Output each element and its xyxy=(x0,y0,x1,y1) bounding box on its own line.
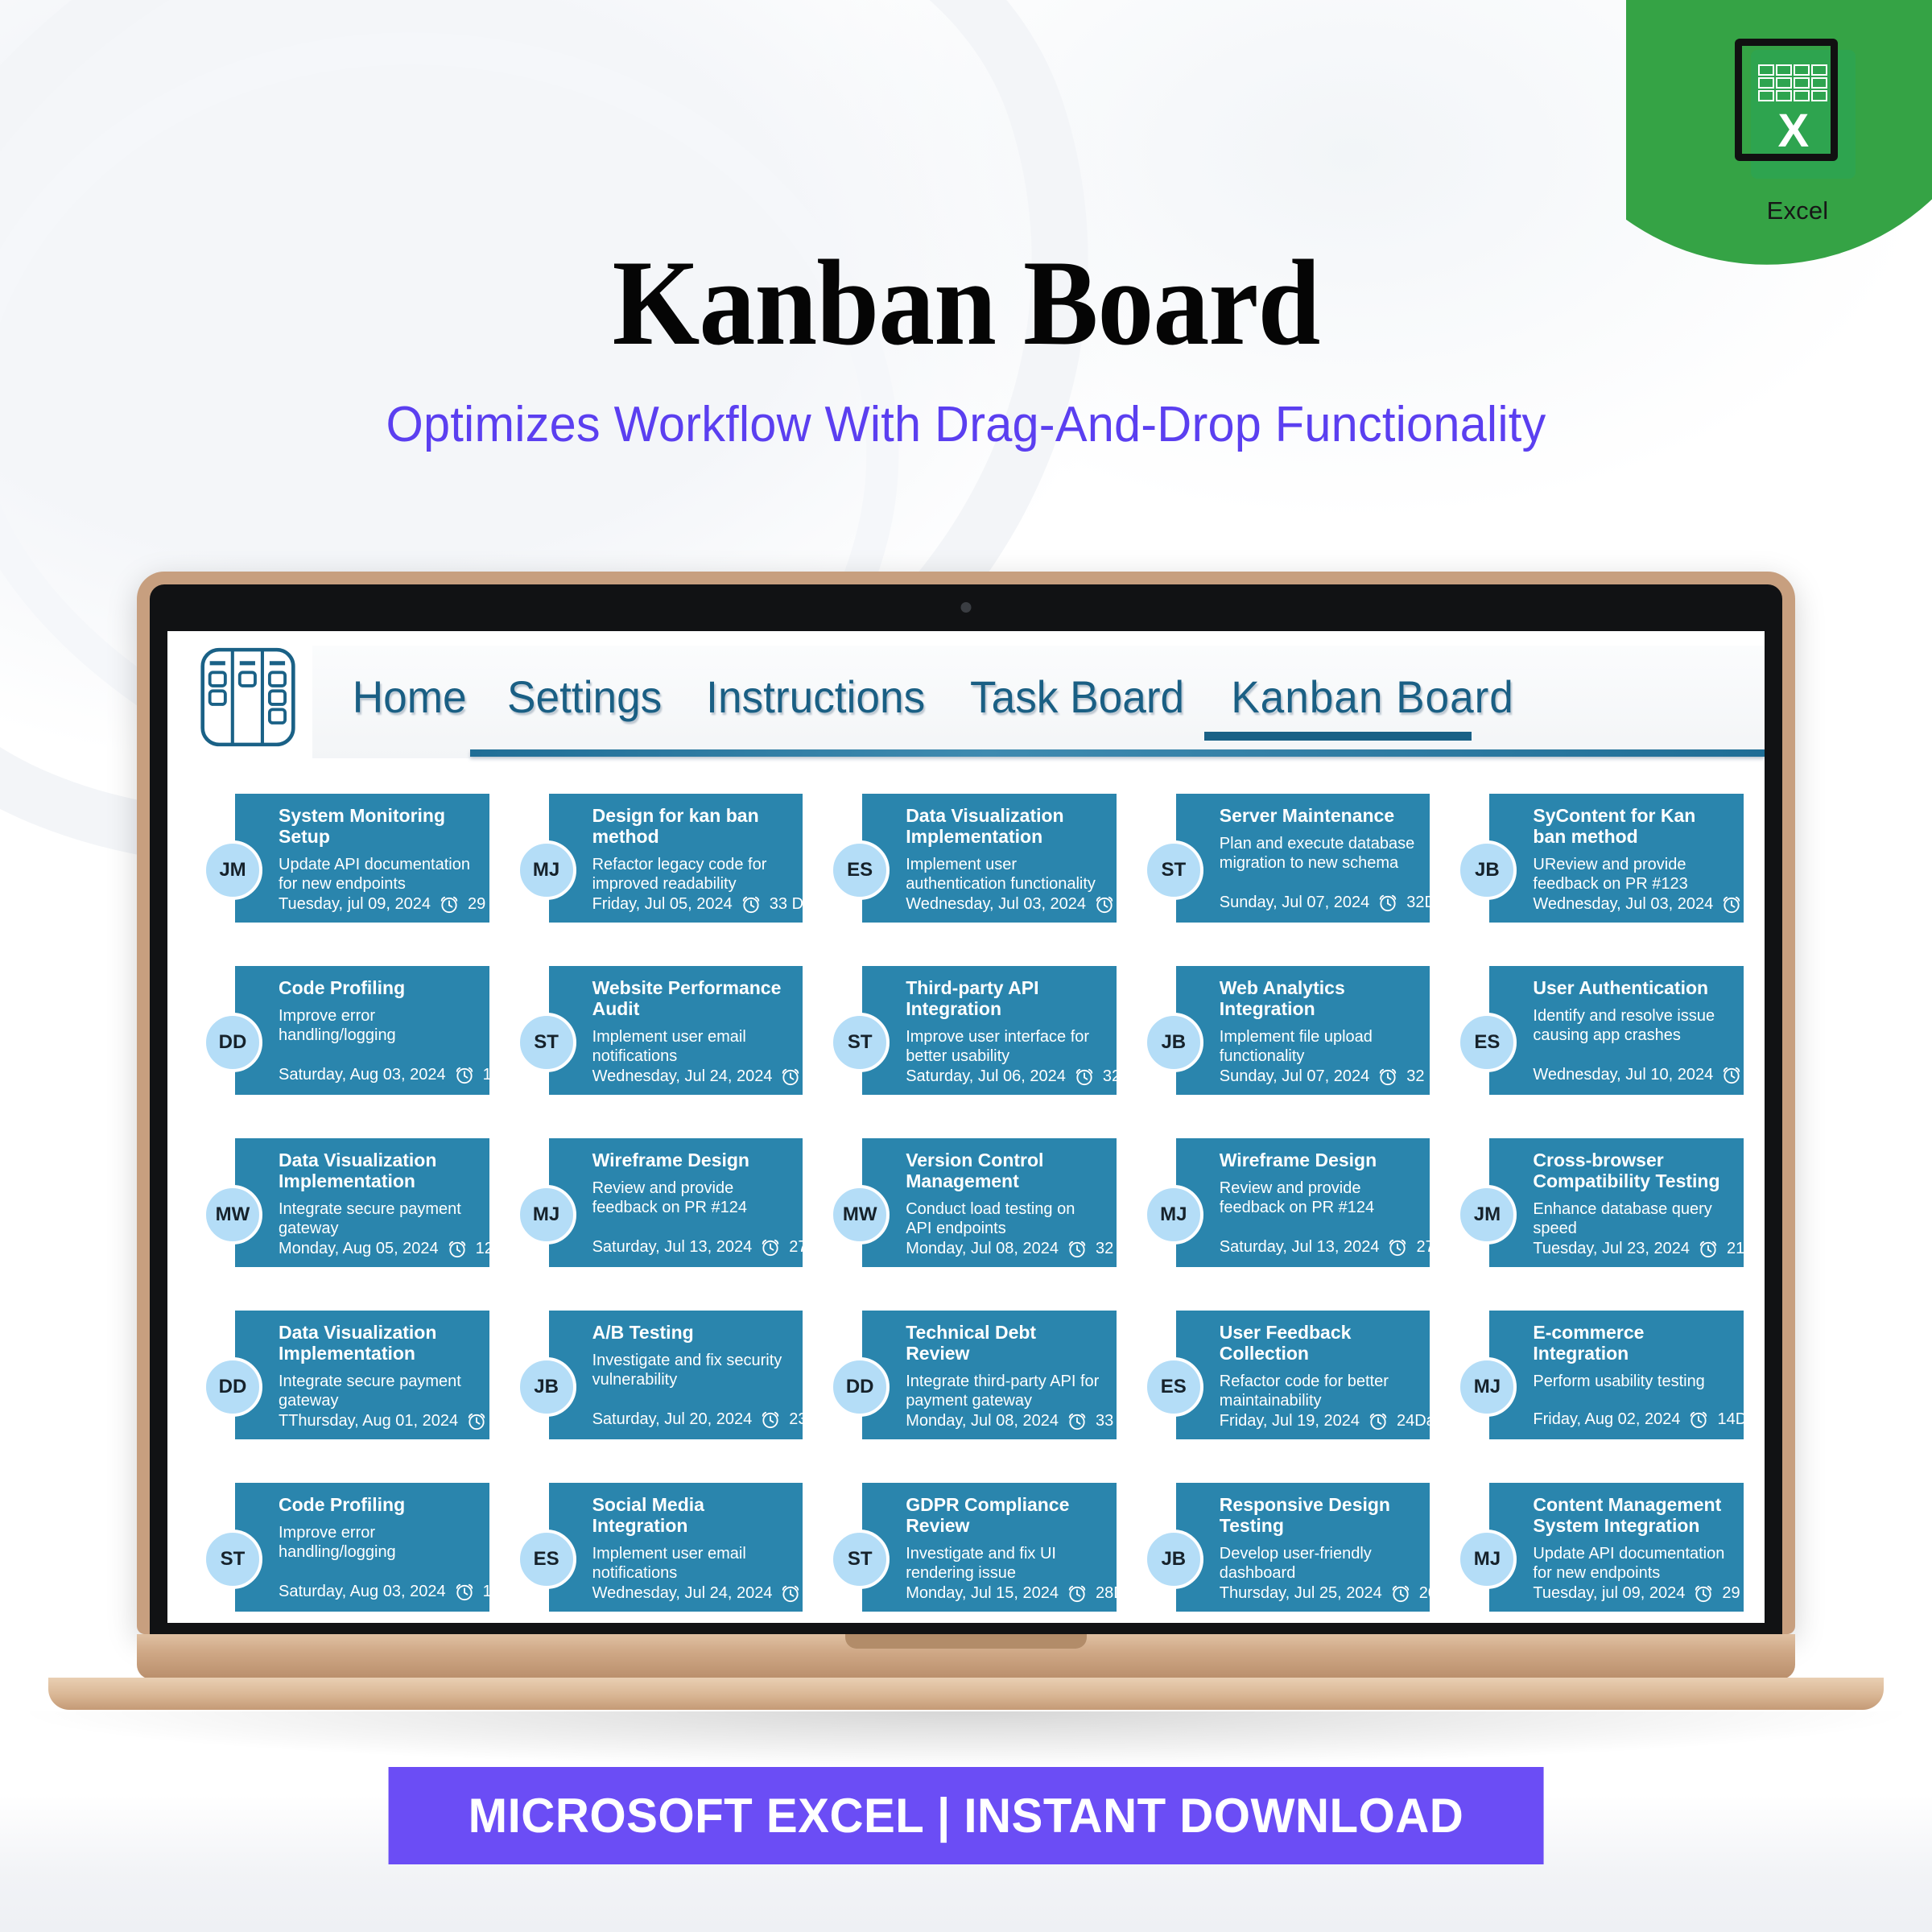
avatar[interactable]: JM xyxy=(1457,1185,1517,1245)
kanban-card[interactable]: System Monitoring SetupUpdate API docume… xyxy=(235,794,489,923)
clock-icon xyxy=(1721,1064,1742,1085)
kanban-card-slot: Server MaintenancePlan and execute datab… xyxy=(1144,787,1430,953)
card-description: Improve user interface for better usabil… xyxy=(899,1027,1102,1066)
card-meta: Monday, Jul 08, 202432 Days70% xyxy=(899,1238,1102,1259)
card-description: Conduct load testing on API endpoints xyxy=(899,1199,1102,1238)
kanban-card[interactable]: Code ProfilingImprove error handling/log… xyxy=(235,1483,489,1612)
kanban-card-slot: SyContent for Kan ban methodUReview and … xyxy=(1457,787,1744,953)
kanban-card[interactable]: Website Performance AuditImplement user … xyxy=(549,966,803,1095)
kanban-card[interactable]: Server MaintenancePlan and execute datab… xyxy=(1176,794,1430,923)
laptop-foot xyxy=(48,1678,1884,1710)
card-meta: Saturday, Jul 13, 202427Days90% xyxy=(1213,1236,1416,1257)
card-due-date: Thursday, Jul 25, 2024 xyxy=(1220,1584,1382,1603)
card-due-date: Friday, Jul 05, 2024 xyxy=(592,895,733,914)
clock-icon xyxy=(1721,894,1742,914)
card-description: Investigate and fix security vulnerabili… xyxy=(586,1351,789,1409)
avatar[interactable]: ST xyxy=(203,1529,262,1589)
card-title: Code Profiling xyxy=(272,1494,475,1515)
card-title: E-commerce Integration xyxy=(1526,1322,1729,1364)
card-due-date: Wednesday, Jul 24, 2024 xyxy=(592,1584,773,1603)
kanban-card-slot: User AuthenticationIdentify and resolve … xyxy=(1457,960,1744,1125)
card-meta: Tuesday, jul 09, 202429 Days1% xyxy=(1526,1583,1729,1604)
footer-banner: MICROSOFT EXCEL | INSTANT DOWNLOAD xyxy=(389,1767,1544,1864)
card-due-date: Monday, Aug 05, 2024 xyxy=(279,1240,439,1258)
avatar[interactable]: ES xyxy=(1457,1013,1517,1072)
kanban-card[interactable]: Data Visualization ImplementationIntegra… xyxy=(235,1138,489,1267)
card-title: Responsive Design Testing xyxy=(1213,1494,1416,1536)
avatar[interactable]: MJ xyxy=(517,840,576,900)
card-meta: Wednesday, Jul 24, 202420 Days40% xyxy=(586,1066,789,1087)
card-due-date: Wednesday, Jul 03, 2024 xyxy=(906,895,1086,914)
card-title: Code Profiling xyxy=(272,977,475,998)
avatar[interactable]: DD xyxy=(203,1357,262,1417)
nav-link-home[interactable]: Home xyxy=(353,671,467,723)
card-duration: 35 Days xyxy=(1750,895,1765,914)
kanban-card[interactable]: Third-party API IntegrationImprove user … xyxy=(862,966,1117,1095)
kanban-board-grid: System Monitoring SetupUpdate API docume… xyxy=(167,760,1765,1623)
card-meta: Saturday, Aug 03, 202413Days70% xyxy=(272,1581,475,1602)
card-meta: Tuesday, Jul 23, 202421Days100% xyxy=(1526,1238,1729,1259)
clock-icon xyxy=(466,1410,487,1431)
avatar[interactable]: DD xyxy=(203,1013,262,1072)
nav-link-settings[interactable]: Settings xyxy=(507,671,662,723)
avatar[interactable]: ST xyxy=(1144,840,1203,900)
laptop-shadow xyxy=(8,1711,1924,1768)
card-title: Version Control Management xyxy=(899,1150,1102,1191)
card-due-date: Wednesday, Jul 03, 2024 xyxy=(1533,895,1713,914)
kanban-card-slot: Web Analytics IntegrationImplement file … xyxy=(1144,960,1430,1125)
kanban-card-slot: User Feedback CollectionRefactor code fo… xyxy=(1144,1304,1430,1470)
avatar[interactable]: ST xyxy=(517,1013,576,1072)
kanban-card-slot: Social Media IntegrationImplement user e… xyxy=(517,1476,803,1623)
card-description: Review and provide feedback on PR #124 xyxy=(1213,1179,1416,1236)
card-duration: 24Days xyxy=(1397,1412,1451,1430)
card-description: Refactor code for better maintainability xyxy=(1213,1372,1416,1410)
card-description: Implement file upload functionality xyxy=(1213,1027,1416,1066)
card-due-date: Saturday, Aug 03, 2024 xyxy=(279,1066,446,1084)
kanban-card-slot: Website Performance AuditImplement user … xyxy=(517,960,803,1125)
clock-icon xyxy=(1067,1238,1088,1259)
spreadsheet-grid-icon xyxy=(1758,64,1827,101)
avatar[interactable]: JB xyxy=(1144,1529,1203,1589)
kanban-card[interactable]: Data Visualization ImplementationIntegra… xyxy=(235,1311,489,1439)
kanban-card[interactable]: User Feedback CollectionRefactor code fo… xyxy=(1176,1311,1430,1439)
card-description: Investigate and fix UI rendering issue xyxy=(899,1544,1102,1583)
clock-icon xyxy=(741,894,762,914)
card-duration: 14Days xyxy=(1717,1410,1765,1429)
kanban-card-slot: Wireframe DesignReview and provide feedb… xyxy=(517,1132,803,1298)
card-description: Perform usability testing xyxy=(1526,1372,1729,1409)
card-title: Data Visualization Implementation xyxy=(272,1150,475,1191)
active-nav-underline xyxy=(1204,732,1472,741)
card-meta: Monday, Jul 15, 202428Days75% xyxy=(899,1583,1102,1604)
card-description: Enhance database query speed xyxy=(1526,1199,1729,1238)
clock-icon xyxy=(454,1581,475,1602)
excel-badge: X Excel xyxy=(1705,39,1890,225)
excel-badge-label: Excel xyxy=(1705,196,1890,225)
kanban-columns-icon xyxy=(196,646,299,749)
page-subtitle: Optimizes Workflow With Drag-And-Drop Fu… xyxy=(39,396,1893,453)
card-due-date: Monday, Jul 08, 2024 xyxy=(906,1240,1059,1258)
card-due-date: Friday, Jul 19, 2024 xyxy=(1220,1412,1360,1430)
clock-icon xyxy=(1094,894,1115,914)
clock-icon xyxy=(1074,1066,1095,1087)
kanban-card-slot: Code ProfilingImprove error handling/log… xyxy=(203,1476,489,1623)
kanban-card-slot: A/B TestingInvestigate and fix security … xyxy=(517,1304,803,1470)
kanban-card-slot: Cross-browser Compatibility TestingEnhan… xyxy=(1457,1132,1744,1298)
kanban-card-slot: Data Visualization ImplementationIntegra… xyxy=(203,1304,489,1470)
card-meta: Monday, Aug 05, 202412 Days85% xyxy=(272,1238,475,1259)
card-title: Wireframe Design xyxy=(1213,1150,1416,1170)
card-due-date: Wednesday, Jul 10, 2024 xyxy=(1533,1066,1713,1084)
nav-link-instructions[interactable]: Instructions xyxy=(706,671,925,723)
nav-links-container: Home Settings Instructions Task Board Ka… xyxy=(312,646,1765,758)
kanban-card[interactable]: A/B TestingInvestigate and fix security … xyxy=(549,1311,803,1439)
kanban-card[interactable]: Cross-browser Compatibility TestingEnhan… xyxy=(1489,1138,1744,1267)
kanban-card[interactable]: Code ProfilingImprove error handling/log… xyxy=(235,966,489,1095)
clock-icon xyxy=(1067,1410,1088,1431)
clock-icon xyxy=(1698,1238,1719,1259)
nav-link-task-board[interactable]: Task Board xyxy=(970,671,1184,723)
avatar[interactable]: JB xyxy=(1457,840,1517,900)
laptop-notch xyxy=(845,1634,1087,1649)
card-description: Integrate secure payment gateway xyxy=(272,1372,475,1410)
card-due-date: Tuesday, jul 09, 2024 xyxy=(279,895,431,914)
card-meta: Wednesday, Jul 03, 202435Days100% xyxy=(899,894,1102,914)
clock-icon xyxy=(760,1236,781,1257)
card-title: Wireframe Design xyxy=(586,1150,789,1170)
kanban-card-slot: Design for kan ban methodRefactor legacy… xyxy=(517,787,803,953)
card-meta: Friday, Jul 19, 202424Days90% xyxy=(1213,1410,1416,1431)
clock-icon xyxy=(1688,1409,1709,1430)
excel-x-letter: X xyxy=(1778,108,1810,155)
card-due-date: Monday, Jul 15, 2024 xyxy=(906,1584,1059,1603)
card-meta: Saturday, Jul 06, 202432Days80% xyxy=(899,1066,1102,1087)
card-due-date: Monday, Jul 08, 2024 xyxy=(906,1412,1059,1430)
avatar[interactable]: JM xyxy=(203,840,262,900)
clock-icon xyxy=(454,1064,475,1085)
card-duration: 33 Days xyxy=(770,895,828,914)
card-title: Social Media Integration xyxy=(586,1494,789,1536)
card-due-date: Saturday, Jul 06, 2024 xyxy=(906,1067,1066,1086)
card-title: Cross-browser Compatibility Testing xyxy=(1526,1150,1729,1191)
kanban-card[interactable]: Wireframe DesignReview and provide feedb… xyxy=(549,1138,803,1267)
card-description: Plan and execute database migration to n… xyxy=(1213,834,1416,892)
card-meta: Saturday, Jul 13, 202427 Days90% xyxy=(586,1236,789,1257)
card-due-date: Tuesday, Jul 23, 2024 xyxy=(1533,1240,1690,1258)
clock-icon xyxy=(1377,1066,1398,1087)
card-description: Refactor legacy code for improved readab… xyxy=(586,855,789,894)
clock-icon xyxy=(1067,1583,1088,1604)
card-description: Integrate third-party API for payment ga… xyxy=(899,1372,1102,1410)
clock-icon xyxy=(1368,1410,1389,1431)
card-description: Update API documentation for new endpoin… xyxy=(272,855,475,894)
webcam-icon xyxy=(961,602,972,613)
card-title: System Monitoring Setup xyxy=(272,805,475,847)
kanban-card-slot: Third-party API IntegrationImprove user … xyxy=(830,960,1117,1125)
card-title: User Authentication xyxy=(1526,977,1729,998)
card-due-date: Sunday, Jul 07, 2024 xyxy=(1220,894,1369,912)
card-title: User Feedback Collection xyxy=(1213,1322,1416,1364)
kanban-card[interactable]: Design for kan ban methodRefactor legacy… xyxy=(549,794,803,923)
card-meta: Tuesday, jul 09, 202429 Days1% xyxy=(272,894,475,914)
card-description: UReview and provide feedback on PR #123 xyxy=(1526,855,1729,894)
card-title: Web Analytics Integration xyxy=(1213,977,1416,1019)
kanban-card[interactable]: Version Control ManagementConduct load t… xyxy=(862,1138,1117,1267)
card-duration: 30 Days xyxy=(1750,1066,1765,1084)
nav-divider xyxy=(470,749,1765,757)
card-duration: 21Days xyxy=(1727,1240,1765,1258)
card-due-date: Saturday, Jul 13, 2024 xyxy=(1220,1238,1380,1257)
kanban-card[interactable]: Web Analytics IntegrationImplement file … xyxy=(1176,966,1430,1095)
card-title: Design for kan ban method xyxy=(586,805,789,847)
card-description: Implement user authentication functional… xyxy=(899,855,1102,894)
kanban-card[interactable]: Wireframe DesignReview and provide feedb… xyxy=(1176,1138,1430,1267)
kanban-card-slot: Wireframe DesignReview and provide feedb… xyxy=(1144,1132,1430,1298)
card-meta: Monday, Jul 08, 202433 Days80% xyxy=(899,1410,1102,1431)
card-description: Implement user email notifications xyxy=(586,1027,789,1066)
card-description: Improve error handling/logging xyxy=(272,1006,475,1064)
kanban-card[interactable]: E-commerce IntegrationPerform usability … xyxy=(1489,1311,1744,1439)
card-title: Server Maintenance xyxy=(1213,805,1416,826)
avatar[interactable]: ES xyxy=(517,1529,576,1589)
kanban-card[interactable]: Data Visualization ImplementationImpleme… xyxy=(862,794,1117,923)
card-title: Third-party API Integration xyxy=(899,977,1102,1019)
card-title: A/B Testing xyxy=(586,1322,789,1343)
card-meta: Sunday, Jul 07, 202432Days90% xyxy=(1213,892,1416,913)
kanban-card-slot: GDPR Compliance ReviewInvestigate and fi… xyxy=(830,1476,1117,1623)
avatar[interactable]: ST xyxy=(830,1529,890,1589)
kanban-card[interactable]: Technical Debt ReviewIntegrate third-par… xyxy=(862,1311,1117,1439)
kanban-card-slot: System Monitoring SetupUpdate API docume… xyxy=(203,787,489,953)
avatar[interactable]: ES xyxy=(1144,1357,1203,1417)
kanban-card-slot: Data Visualization ImplementationIntegra… xyxy=(203,1132,489,1298)
card-meta: Wednesday, Jul 03, 202435 Days100% xyxy=(1526,894,1729,914)
kanban-card-slot: E-commerce IntegrationPerform usability … xyxy=(1457,1304,1744,1470)
clock-icon xyxy=(1693,1583,1714,1604)
avatar[interactable]: ST xyxy=(830,1013,890,1072)
avatar[interactable]: JB xyxy=(517,1357,576,1417)
card-due-date: Saturday, Aug 03, 2024 xyxy=(279,1583,446,1601)
card-due-date: Sunday, Jul 07, 2024 xyxy=(1220,1067,1369,1086)
card-title: Data Visualization Implementation xyxy=(272,1322,475,1364)
avatar[interactable]: ES xyxy=(830,840,890,900)
card-title: Data Visualization Implementation xyxy=(899,805,1102,847)
card-title: Content Management System Integration xyxy=(1526,1494,1729,1536)
avatar[interactable]: MJ xyxy=(1457,1529,1517,1589)
card-meta: Wednesday, Jul 24, 202421 Days40% xyxy=(586,1583,789,1604)
kanban-card-slot: Version Control ManagementConduct load t… xyxy=(830,1132,1117,1298)
avatar[interactable]: MJ xyxy=(1144,1185,1203,1245)
card-duration: 32Days xyxy=(1406,894,1461,912)
kanban-card[interactable]: User AuthenticationIdentify and resolve … xyxy=(1489,966,1744,1095)
clock-icon xyxy=(447,1238,468,1259)
avatar[interactable]: MJ xyxy=(1457,1357,1517,1417)
card-due-date: Friday, Aug 02, 2024 xyxy=(1533,1410,1680,1429)
card-description: Improve error handling/logging xyxy=(272,1523,475,1581)
kanban-card-slot: Responsive Design TestingDevelop user-fr… xyxy=(1144,1476,1430,1623)
card-title: Website Performance Audit xyxy=(586,977,789,1019)
avatar[interactable]: DD xyxy=(830,1357,890,1417)
kanban-card-slot: Code ProfilingImprove error handling/log… xyxy=(203,960,489,1125)
card-meta: Friday, Jul 05, 202433 Days10% xyxy=(586,894,789,914)
clock-icon xyxy=(780,1583,801,1604)
card-title: SyContent for Kan ban method xyxy=(1526,805,1729,847)
card-description: Review and provide feedback on PR #124 xyxy=(586,1179,789,1236)
app-navigation-bar: Home Settings Instructions Task Board Ka… xyxy=(167,631,1765,760)
card-due-date: Saturday, Jul 20, 2024 xyxy=(592,1410,753,1429)
card-meta: Wednesday, Jul 10, 202430 Days100% xyxy=(1526,1064,1729,1085)
avatar[interactable]: JB xyxy=(1144,1013,1203,1072)
clock-icon xyxy=(760,1409,781,1430)
card-description: Identify and resolve issue causing app c… xyxy=(1526,1006,1729,1064)
footer-banner-text: MICROSOFT EXCEL | INSTANT DOWNLOAD xyxy=(469,1788,1464,1843)
card-meta: Thursday, Jul 25, 202420 Days80% xyxy=(1213,1583,1416,1604)
card-description: Update API documentation for new endpoin… xyxy=(1526,1544,1729,1583)
excel-file-icon: X xyxy=(1732,39,1864,184)
card-due-date: Tuesday, jul 09, 2024 xyxy=(1533,1584,1685,1603)
avatar[interactable]: MJ xyxy=(517,1185,576,1245)
clock-icon xyxy=(780,1066,801,1087)
laptop-base xyxy=(137,1634,1795,1679)
card-meta: Saturday, Jul 20, 202423Days23% xyxy=(586,1409,789,1430)
laptop-screen: Home Settings Instructions Task Board Ka… xyxy=(167,631,1765,1623)
card-due-date: TThursday, Aug 01, 2024 xyxy=(279,1412,458,1430)
card-meta: Sunday, Jul 07, 202432 Days75% xyxy=(1213,1066,1416,1087)
kanban-card[interactable]: Responsive Design TestingDevelop user-fr… xyxy=(1176,1483,1430,1612)
kanban-card[interactable]: GDPR Compliance ReviewInvestigate and fi… xyxy=(862,1483,1117,1612)
kanban-card[interactable]: Social Media IntegrationImplement user e… xyxy=(549,1483,803,1612)
laptop-mockup: Home Settings Instructions Task Board Ka… xyxy=(137,572,1795,1679)
card-title: GDPR Compliance Review xyxy=(899,1494,1102,1536)
kanban-card-slot: Technical Debt ReviewIntegrate third-par… xyxy=(830,1304,1117,1470)
card-due-date: Saturday, Jul 13, 2024 xyxy=(592,1238,753,1257)
clock-icon xyxy=(1390,1583,1411,1604)
clock-icon xyxy=(1387,1236,1408,1257)
kanban-card[interactable]: Content Management System IntegrationUpd… xyxy=(1489,1483,1744,1612)
avatar[interactable]: MW xyxy=(203,1185,262,1245)
card-meta: Saturday, Aug 03, 202412 Days70% xyxy=(272,1064,475,1085)
card-due-date: Wednesday, Jul 24, 2024 xyxy=(592,1067,773,1086)
card-title: Technical Debt Review xyxy=(899,1322,1102,1364)
card-meta: Friday, Aug 02, 202414Days100% xyxy=(1526,1409,1729,1430)
card-description: Develop user-friendly dashboard xyxy=(1213,1544,1416,1583)
kanban-card-slot: Content Management System IntegrationUpd… xyxy=(1457,1476,1744,1623)
kanban-card[interactable]: SyContent for Kan ban methodUReview and … xyxy=(1489,794,1744,923)
clock-icon xyxy=(439,894,460,914)
card-description: Implement user email notifications xyxy=(586,1544,789,1583)
nav-links: Home Settings Instructions Task Board Ka… xyxy=(312,646,1765,736)
clock-icon xyxy=(1377,892,1398,913)
laptop-lid: Home Settings Instructions Task Board Ka… xyxy=(137,572,1795,1634)
card-description: Integrate secure payment gateway xyxy=(272,1199,475,1238)
card-meta: TThursday, Aug 01, 202415Days1% xyxy=(272,1410,475,1431)
avatar[interactable]: MW xyxy=(830,1185,890,1245)
card-duration: 28Days xyxy=(1096,1584,1150,1603)
nav-link-kanban-board[interactable]: Kanban Board xyxy=(1231,671,1514,723)
card-duration: 29 Days xyxy=(1722,1584,1765,1603)
excel-application: Home Settings Instructions Task Board Ka… xyxy=(167,631,1765,1623)
kanban-card-slot: Data Visualization ImplementationImpleme… xyxy=(830,787,1117,953)
page-title: Kanban Board xyxy=(77,242,1855,364)
